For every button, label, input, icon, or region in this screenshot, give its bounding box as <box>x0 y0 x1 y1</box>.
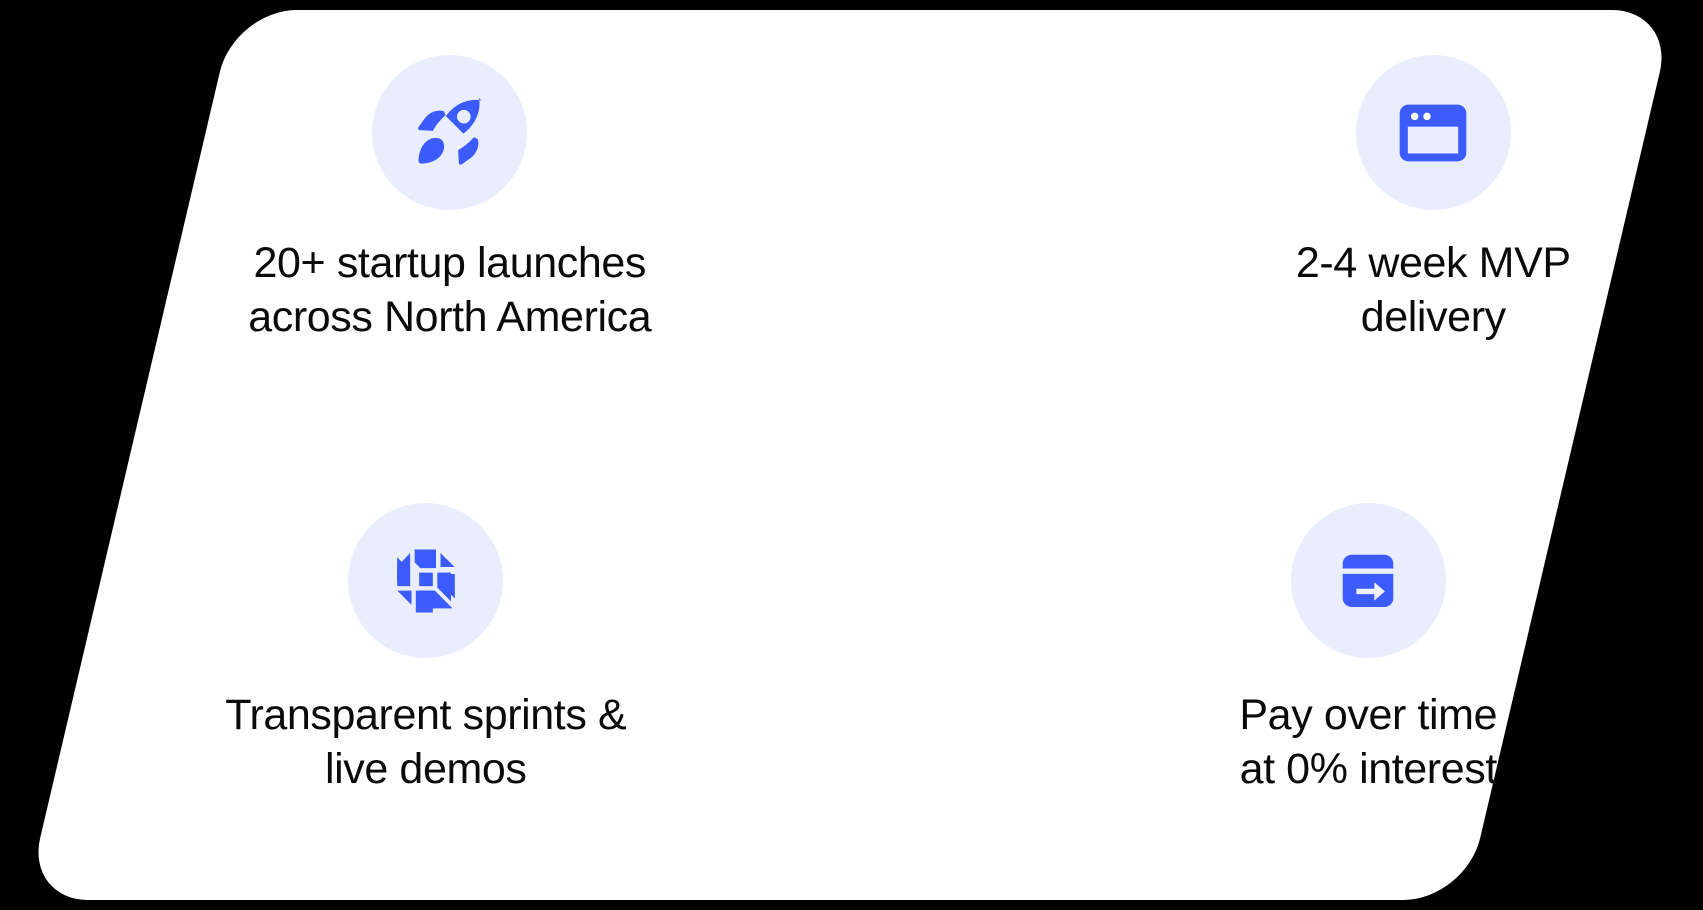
rocket-icon <box>407 90 493 176</box>
icon-badge <box>1356 55 1511 210</box>
feature-label: Transparent sprints & live demos <box>225 688 626 796</box>
feature-grid: 20+ startup launches across North Americ… <box>0 0 1703 910</box>
feature-label: 20+ startup launches across North Americ… <box>248 236 651 344</box>
icon-badge <box>372 55 527 210</box>
cube-icon <box>386 541 466 621</box>
feature-item-transparent-sprints: Transparent sprints & live demos <box>0 455 852 910</box>
feature-item-mvp-delivery: 2-4 week MVP delivery <box>852 0 1703 455</box>
feature-item-pay-over-time: Pay over time at 0% interest <box>852 455 1703 910</box>
browser-window-icon <box>1393 93 1473 173</box>
icon-badge <box>1291 503 1446 658</box>
feature-label: 2-4 week MVP delivery <box>1296 236 1571 344</box>
feature-highlights-panel: 20+ startup launches across North Americ… <box>0 0 1703 910</box>
credit-card-arrow-icon <box>1327 540 1409 622</box>
icon-badge <box>348 503 503 658</box>
feature-item-startup-launches: 20+ startup launches across North Americ… <box>0 0 852 455</box>
feature-label: Pay over time at 0% interest <box>1239 688 1497 796</box>
